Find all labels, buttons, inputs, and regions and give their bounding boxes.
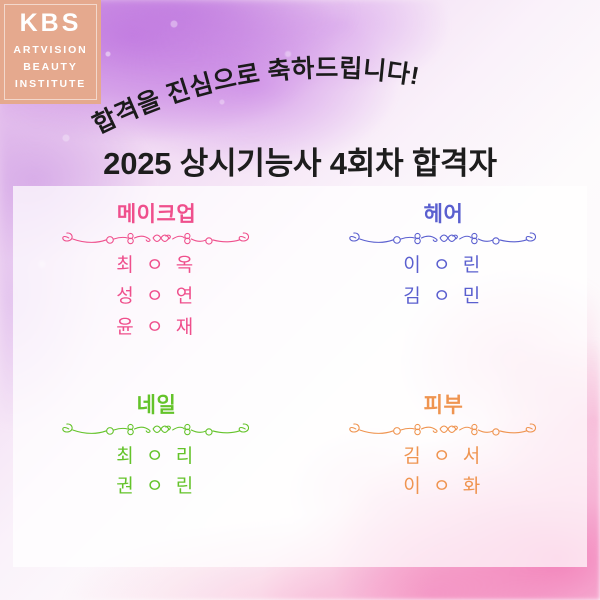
category-grid: 메이크업 (13, 186, 587, 567)
logo-artvision-text: ARTVISION (6, 42, 95, 59)
ornament-divider-icon (59, 418, 255, 438)
list-item: 이 ㅇ 린 (300, 251, 587, 282)
list-item: 김 ㅇ 민 (300, 282, 587, 313)
category-title-hair: 헤어 (300, 203, 587, 226)
list-item: 최 ㅇ 옥 (13, 251, 300, 282)
name-list-hair: 이 ㅇ 린 김 ㅇ 민 (300, 251, 587, 313)
ornament-divider-icon (346, 418, 542, 438)
name-list-makeup: 최 ㅇ 옥 성 ㅇ 연 윤 ㅇ 재 (13, 251, 300, 343)
arc-text: 합격을 진심으로 축하드립니다! (89, 54, 422, 139)
page-title: 2025 상시기능사 4회차 합격자 (0, 138, 600, 183)
ornament-divider-icon (346, 227, 542, 247)
ornament-divider-icon (59, 227, 255, 247)
list-item: 최 ㅇ 리 (13, 442, 300, 473)
list-item: 윤 ㅇ 재 (13, 313, 300, 344)
brand-logo: KBS ARTVISION BEAUTY INSTITUTE (0, 0, 101, 104)
category-title-skin: 피부 (300, 394, 587, 417)
category-nail: 네일 (13, 377, 300, 568)
list-item: 권 ㅇ 린 (13, 472, 300, 503)
poster-canvas: KBS ARTVISION BEAUTY INSTITUTE 합격을 진심으로 … (0, 0, 600, 600)
arc-textpath: 합격을 진심으로 축하드립니다! (89, 54, 422, 139)
logo-institute-text: INSTITUTE (6, 76, 95, 93)
logo-beauty-text: BEAUTY (6, 59, 95, 76)
category-makeup: 메이크업 (13, 186, 300, 377)
category-title-nail: 네일 (13, 394, 300, 417)
category-skin: 피부 (300, 377, 587, 568)
arc-svg: 합격을 진심으로 축하드립니다! (92, 44, 522, 139)
list-item: 성 ㅇ 연 (13, 282, 300, 313)
name-list-skin: 김 ㅇ 서 이 ㅇ 화 (300, 442, 587, 504)
list-item: 김 ㅇ 서 (300, 442, 587, 473)
name-list-nail: 최 ㅇ 리 권 ㅇ 린 (13, 442, 300, 504)
list-item: 이 ㅇ 화 (300, 472, 587, 503)
congratulation-arc: 합격을 진심으로 축하드립니다! (92, 44, 522, 139)
logo-kbs-text: KBS (6, 9, 95, 38)
category-hair: 헤어 (300, 186, 587, 377)
results-panel: 메이크업 (13, 186, 587, 567)
category-title-makeup: 메이크업 (13, 203, 300, 226)
